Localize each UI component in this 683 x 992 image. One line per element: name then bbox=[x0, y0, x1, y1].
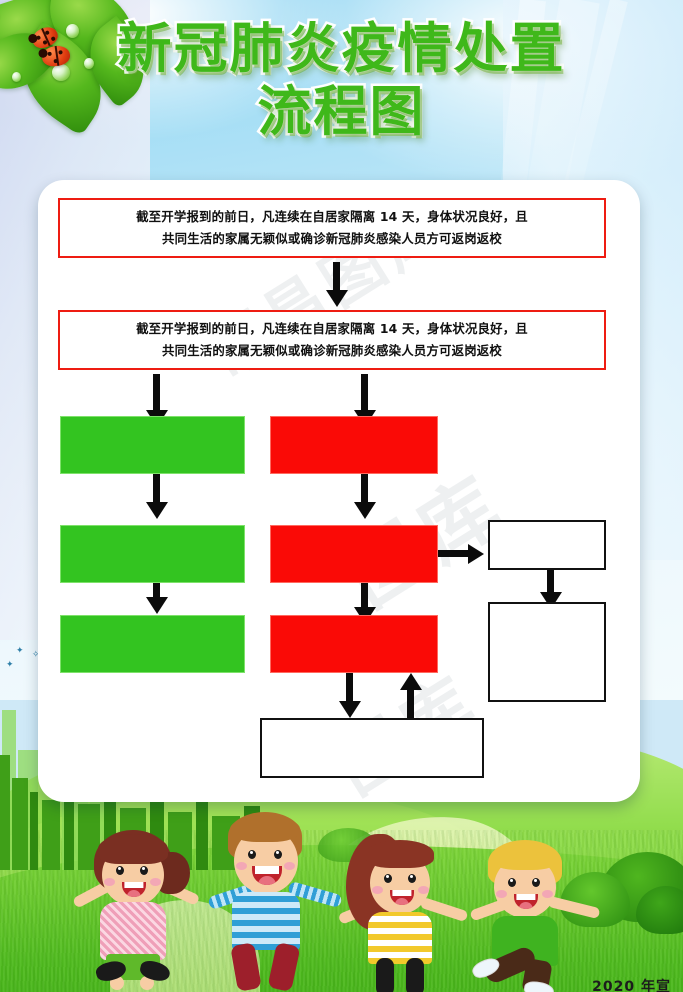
child-shirt bbox=[368, 912, 432, 964]
statement-box-1-line-1: 截至开学报到的前日，凡连续在自居家隔离 14 天，身体状况良好，且 bbox=[136, 209, 528, 224]
building bbox=[12, 778, 28, 870]
child-eye bbox=[508, 878, 516, 887]
child-eye bbox=[248, 850, 256, 859]
child-arm bbox=[547, 896, 600, 919]
child-figure-4 bbox=[468, 842, 608, 992]
child-cheek bbox=[104, 878, 115, 886]
green-box-2[interactable] bbox=[60, 525, 245, 583]
child-eye bbox=[274, 850, 282, 859]
child-figure-3 bbox=[340, 836, 470, 992]
child-bangs bbox=[98, 834, 168, 864]
poster-credit: 2020 年宣 bbox=[592, 976, 671, 992]
child-cheek bbox=[236, 862, 247, 870]
poster-title: 新冠肺炎疫情处置 流程图 bbox=[0, 18, 683, 144]
child-leg bbox=[376, 958, 394, 992]
title-line-1: 新冠肺炎疫情处置 bbox=[0, 18, 683, 80]
title-line-2: 流程图 bbox=[0, 80, 683, 144]
child-eye bbox=[408, 874, 416, 883]
red-box-1[interactable] bbox=[270, 416, 438, 474]
building bbox=[0, 755, 10, 870]
green-box-3[interactable] bbox=[60, 615, 245, 673]
child-cheek bbox=[150, 878, 161, 886]
child-bangs bbox=[230, 816, 300, 842]
statement-box-1: 截至开学报到的前日，凡连续在自居家隔离 14 天，身体状况良好，且 共同生活的家… bbox=[58, 198, 606, 258]
poster-canvas: ✦ ✧ ✦ 新冠肺炎疫情处置 流程图 蒂昌图库 图库 bbox=[0, 0, 683, 992]
white-box-right-bottom[interactable] bbox=[488, 602, 606, 702]
child-eye bbox=[532, 878, 540, 887]
red-box-3[interactable] bbox=[270, 615, 438, 673]
child-shirt bbox=[232, 892, 300, 950]
red-box-2[interactable] bbox=[270, 525, 438, 583]
child-figure-2 bbox=[212, 812, 342, 992]
child-cheek bbox=[372, 886, 383, 894]
child-leg bbox=[406, 958, 424, 992]
child-cheek bbox=[496, 890, 507, 898]
child-eye bbox=[116, 866, 124, 875]
statement-box-1-line-2: 共同生活的家属无颖似或确诊新冠肺炎感染人员方可返岗返校 bbox=[162, 231, 502, 246]
child-eye bbox=[384, 874, 392, 883]
child-cheek bbox=[418, 886, 429, 894]
building bbox=[42, 800, 60, 870]
child-shoe bbox=[523, 980, 555, 992]
building bbox=[30, 792, 38, 870]
child-bangs bbox=[366, 840, 434, 868]
butterfly-icon: ✦ bbox=[6, 660, 14, 670]
white-box-right-top[interactable] bbox=[488, 520, 606, 570]
child-shirt bbox=[100, 902, 166, 960]
child-bangs bbox=[490, 844, 560, 870]
child-cheek bbox=[284, 862, 295, 870]
green-box-1[interactable] bbox=[60, 416, 245, 474]
child-cheek bbox=[542, 890, 553, 898]
child-eye bbox=[140, 866, 148, 875]
statement-box-2-line-1: 截至开学报到的前日，凡连续在自居家隔离 14 天，身体状况良好，且 bbox=[136, 321, 528, 336]
child-figure-1 bbox=[78, 826, 198, 992]
butterfly-icon: ✦ bbox=[16, 646, 24, 656]
flowchart-panel: 蒂昌图库 图库 图库 截至开学报到的前日，凡连续在自居家隔离 14 天，身体状况… bbox=[38, 180, 640, 802]
statement-box-2-line-2: 共同生活的家属无颖似或确诊新冠肺炎感染人员方可返岗返校 bbox=[162, 343, 502, 358]
statement-box-2: 截至开学报到的前日，凡连续在自居家隔离 14 天，身体状况良好，且 共同生活的家… bbox=[58, 310, 606, 370]
white-box-bottom[interactable] bbox=[260, 718, 484, 778]
